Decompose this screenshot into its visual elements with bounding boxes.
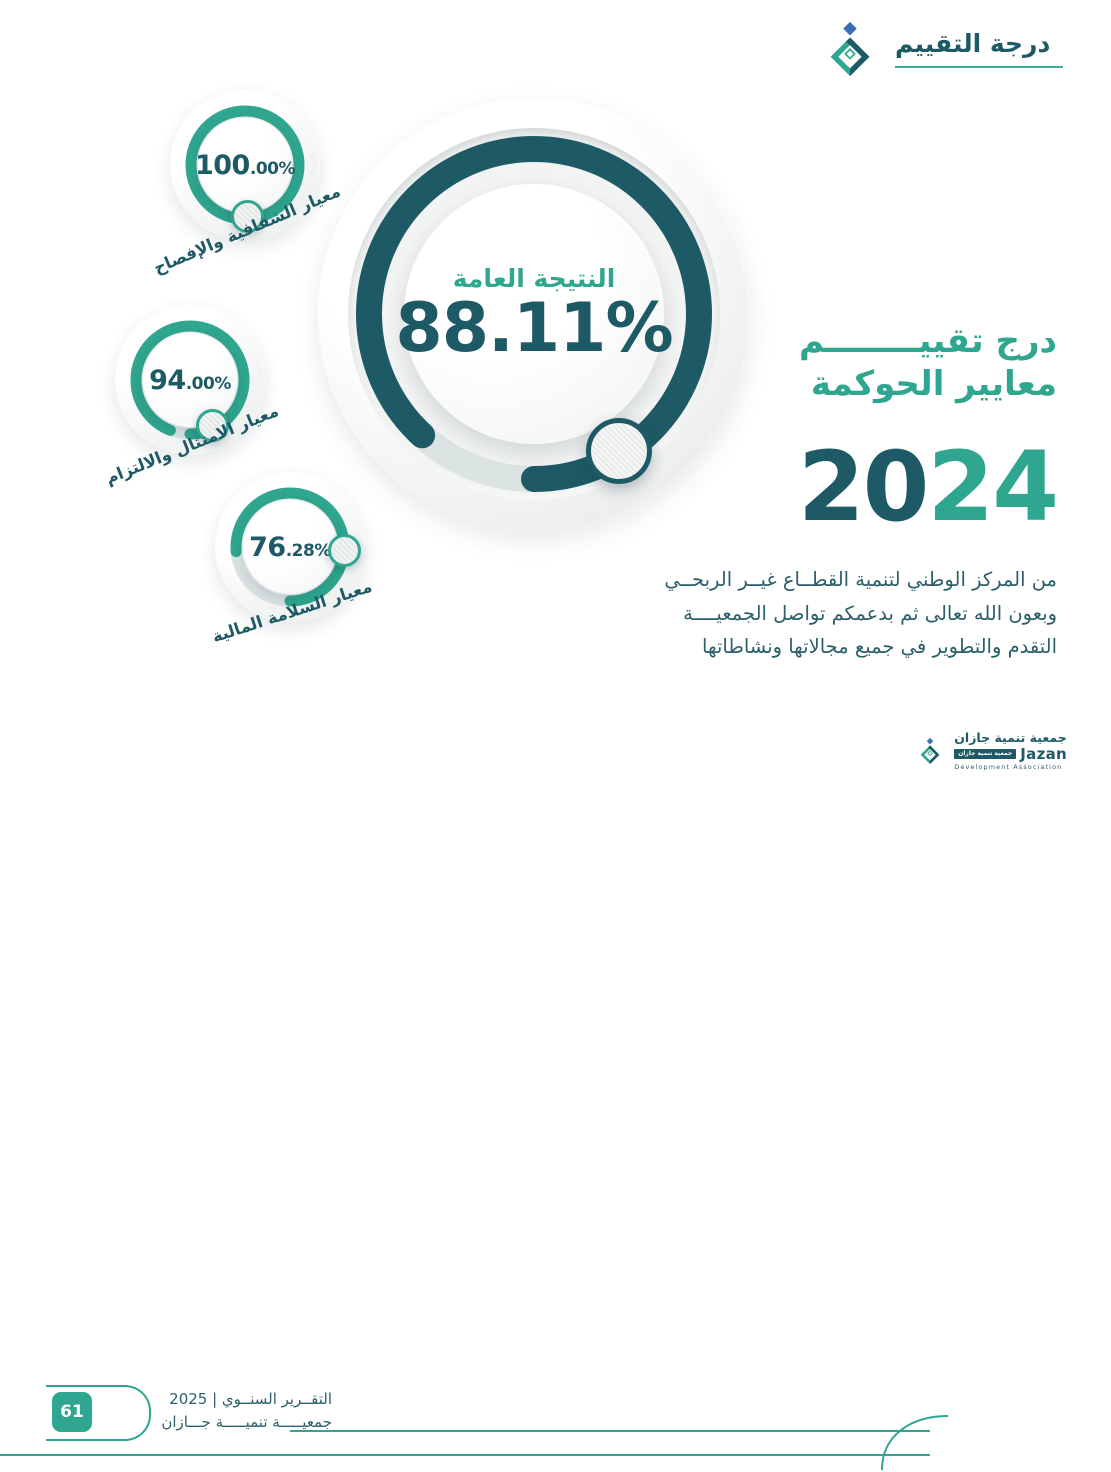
gauge-label: النتيجة العامة: [453, 266, 616, 291]
governance-title-line1: درج تقييــــــــم: [587, 320, 1057, 363]
metric-center: 76.28%: [243, 500, 337, 594]
gauge-value-int: 88: [395, 295, 488, 363]
footer-brand-english: جمعية تنمية جازان Jazan: [954, 747, 1067, 762]
footer-brand-text: جمعية تنمية جازان جمعية تنمية جازان Jaza…: [954, 732, 1067, 770]
header: درجة التقييم: [819, 18, 1063, 80]
metric-value-int: 76: [249, 534, 286, 561]
footer-rule-bottom: [0, 1454, 930, 1456]
footer-line-1: التقــرير السنــوي | 2025: [112, 1388, 332, 1411]
metric-value-int: 94: [149, 367, 186, 394]
governance-title-line2: معايير الحوكمة: [587, 363, 1057, 406]
metric-knob-handle[interactable]: [328, 534, 361, 567]
footer-rule-top: [290, 1430, 930, 1432]
metric-value: 76.28%: [249, 534, 331, 561]
page-number-badge: 61: [52, 1392, 92, 1432]
report-year: 2024: [587, 439, 1057, 535]
metric-value-frac: .28%: [286, 543, 331, 560]
description-paragraph: من المركز الوطني لتنمية القطــاع غيــر ا…: [587, 563, 1057, 664]
jazan-diamond-logo-icon: [915, 736, 945, 766]
slide-canvas: درجة التقييم النتيجة العامة 88.: [0, 0, 1111, 784]
footer-corner-curve: [880, 1414, 950, 1472]
metric-value-frac: .00%: [186, 376, 231, 393]
footer-brand-subtitle: Development Association: [954, 764, 1062, 771]
footer-brand: جمعية تنمية جازان جمعية تنمية جازان Jaza…: [915, 732, 1067, 770]
page-title: درجة التقييم: [895, 30, 1050, 58]
footer-brand-name: Jazan: [1020, 747, 1067, 762]
report-year-first: 20: [798, 431, 928, 543]
footer-brand-arabic: جمعية تنمية جازان: [954, 732, 1067, 745]
metric-value: 94.00%: [149, 367, 231, 394]
metric-value: 100.00%: [195, 152, 295, 179]
title-underline: [895, 66, 1063, 68]
right-panel: درج تقييــــــــم معايير الحوكمة 2024 من…: [587, 320, 1057, 664]
metric-center: 100.00%: [198, 118, 292, 212]
metric-value-frac: .00%: [250, 161, 295, 178]
jazan-diamond-logo-icon: [819, 18, 881, 80]
footer: 61 التقــرير السنــوي | 2025 جمعيـــــة …: [0, 688, 1111, 784]
header-title-block: درجة التقييم: [895, 30, 1063, 69]
paragraph-line-3: التقدم والتطوير في جميع مجالاتها ونشاطات…: [587, 630, 1057, 664]
footer-report-info: التقــرير السنــوي | 2025 جمعيـــــة تنم…: [112, 1388, 332, 1435]
report-year-second: 24: [927, 431, 1057, 543]
paragraph-line-1: من المركز الوطني لتنمية القطــاع غيــر ا…: [587, 563, 1057, 597]
metric-value-int: 100: [195, 152, 250, 179]
paragraph-line-2: وبعون الله تعالى ثم بدعمكم تواصل الجمعيـ…: [587, 597, 1057, 631]
footer-brand-chip: جمعية تنمية جازان: [954, 749, 1016, 759]
